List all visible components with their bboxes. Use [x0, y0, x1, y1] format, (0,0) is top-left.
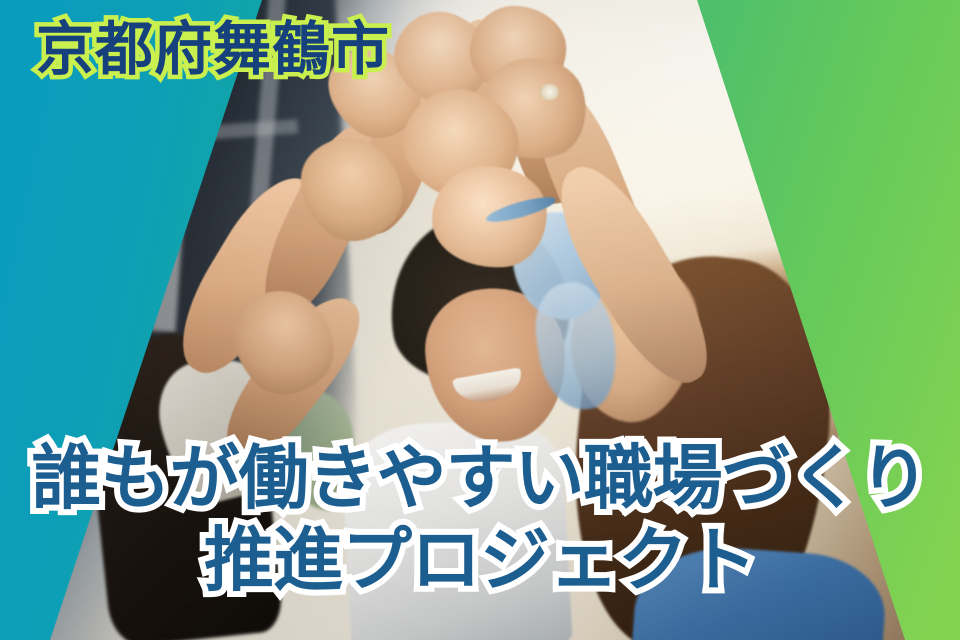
promo-banner: 京都府舞鶴市 誰もが働きやすい職場づくり 推進プロジェクト: [0, 0, 960, 640]
city-label: 京都府舞鶴市: [36, 18, 390, 83]
headline-line-1: 誰もが働きやすい職場づくり: [0, 438, 960, 519]
headline: 誰もが働きやすい職場づくり 推進プロジェクト: [0, 438, 960, 602]
headline-line-2: 推進プロジェクト: [0, 519, 960, 602]
